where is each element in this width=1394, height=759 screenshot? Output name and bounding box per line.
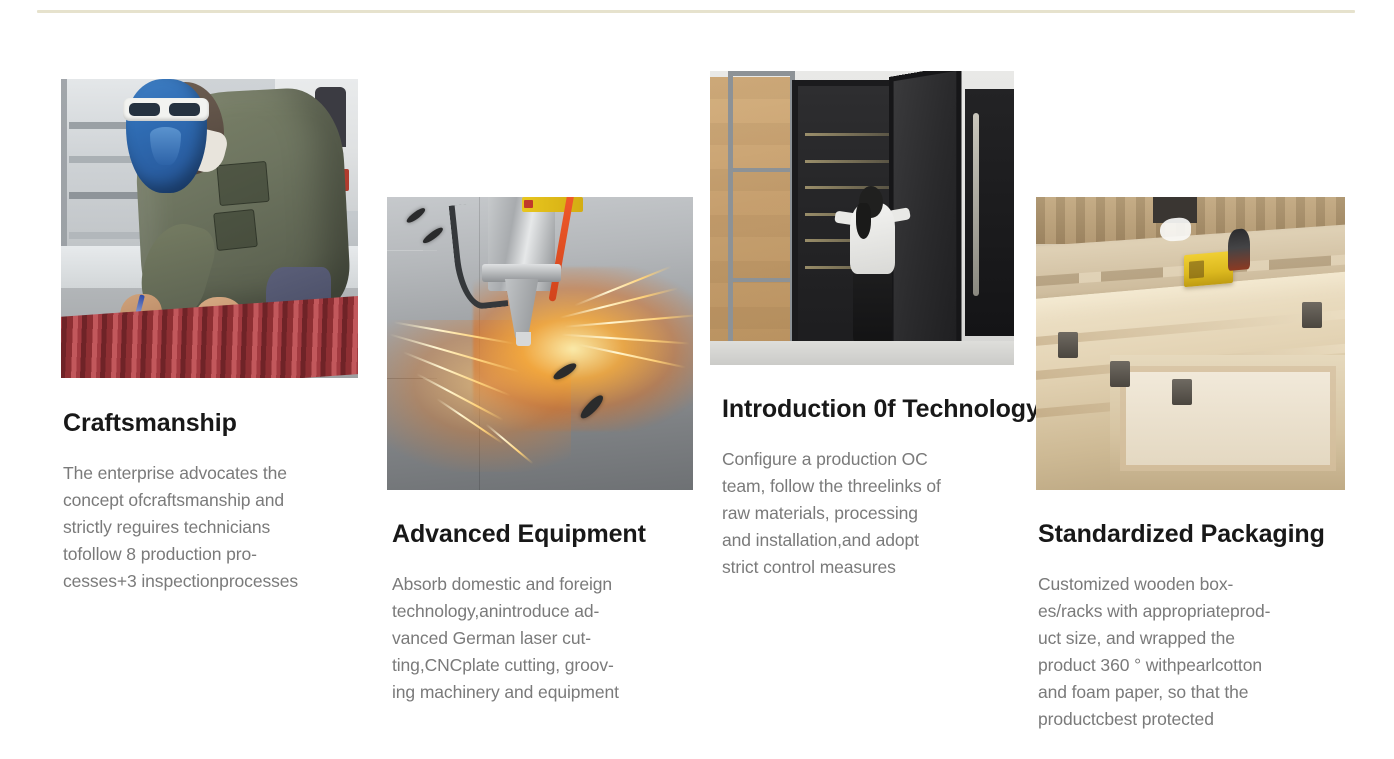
crate-corner-bracket bbox=[1302, 302, 1322, 328]
laser-cutting-photo bbox=[387, 197, 693, 490]
laser-head-label-shape bbox=[522, 197, 583, 212]
blue-welding-mask-shape bbox=[126, 79, 206, 193]
crate-corner-bracket bbox=[1058, 332, 1078, 358]
showroom-floor-shape bbox=[710, 341, 1014, 365]
mask-nose-shape bbox=[150, 127, 180, 166]
feature-card-equipment: Advanced Equipment Absorb domestic and f… bbox=[387, 197, 697, 706]
jacket-pocket-lower-shape bbox=[214, 209, 258, 251]
safety-goggles-shape bbox=[123, 98, 209, 120]
worker-marking-steel-photo bbox=[61, 79, 358, 378]
plastic-bag-shape bbox=[1160, 216, 1191, 242]
feature-body-technology: Configure a production OC team, follow t… bbox=[722, 446, 1022, 581]
feature-card-craftsmanship: Craftsmanship The enterprise advocates t… bbox=[61, 79, 361, 595]
door-showroom-photo bbox=[710, 71, 1014, 365]
goggle-lens-left-shape bbox=[129, 103, 160, 116]
right-door-panel-shape bbox=[965, 89, 1014, 336]
goggle-lens-right-shape bbox=[169, 103, 200, 116]
jacket-pocket-upper-shape bbox=[217, 161, 270, 206]
feature-title-craftsmanship: Craftsmanship bbox=[63, 408, 361, 438]
feature-title-packaging: Standardized Packaging bbox=[1038, 519, 1348, 549]
yellow-toolbox-shape bbox=[1184, 250, 1233, 287]
crate-corner-bracket bbox=[1172, 379, 1192, 405]
wooden-crates-photo bbox=[1036, 197, 1345, 490]
feature-title-equipment: Advanced Equipment bbox=[392, 519, 697, 549]
slide-canvas: Craftsmanship The enterprise advocates t… bbox=[0, 0, 1394, 759]
person-legs-shape bbox=[853, 265, 893, 344]
crate-slat bbox=[1036, 308, 1345, 347]
feature-body-packaging: Customized wooden box- es/racks with app… bbox=[1038, 571, 1348, 733]
red-corrugated-sheets-shape bbox=[61, 295, 358, 378]
feature-card-packaging: Standardized Packaging Customized wooden… bbox=[1036, 197, 1348, 733]
feature-title-technology: Introduction 0f Technology bbox=[722, 394, 1022, 424]
cordless-drill-shape bbox=[1228, 228, 1250, 271]
metal-frame-shape bbox=[728, 71, 795, 359]
feature-body-craftsmanship: The enterprise advocates the concept ofc… bbox=[63, 460, 363, 595]
front-crate-face-shape bbox=[1110, 355, 1345, 490]
top-divider-rule bbox=[37, 10, 1355, 13]
crate-corner-bracket bbox=[1110, 361, 1130, 387]
laser-nozzle-shape bbox=[516, 332, 531, 347]
feature-body-equipment: Absorb domestic and foreign technology,a… bbox=[392, 571, 692, 706]
person-ponytail-shape bbox=[856, 203, 871, 238]
feature-card-technology: Introduction 0f Technology Configure a p… bbox=[710, 71, 1022, 581]
